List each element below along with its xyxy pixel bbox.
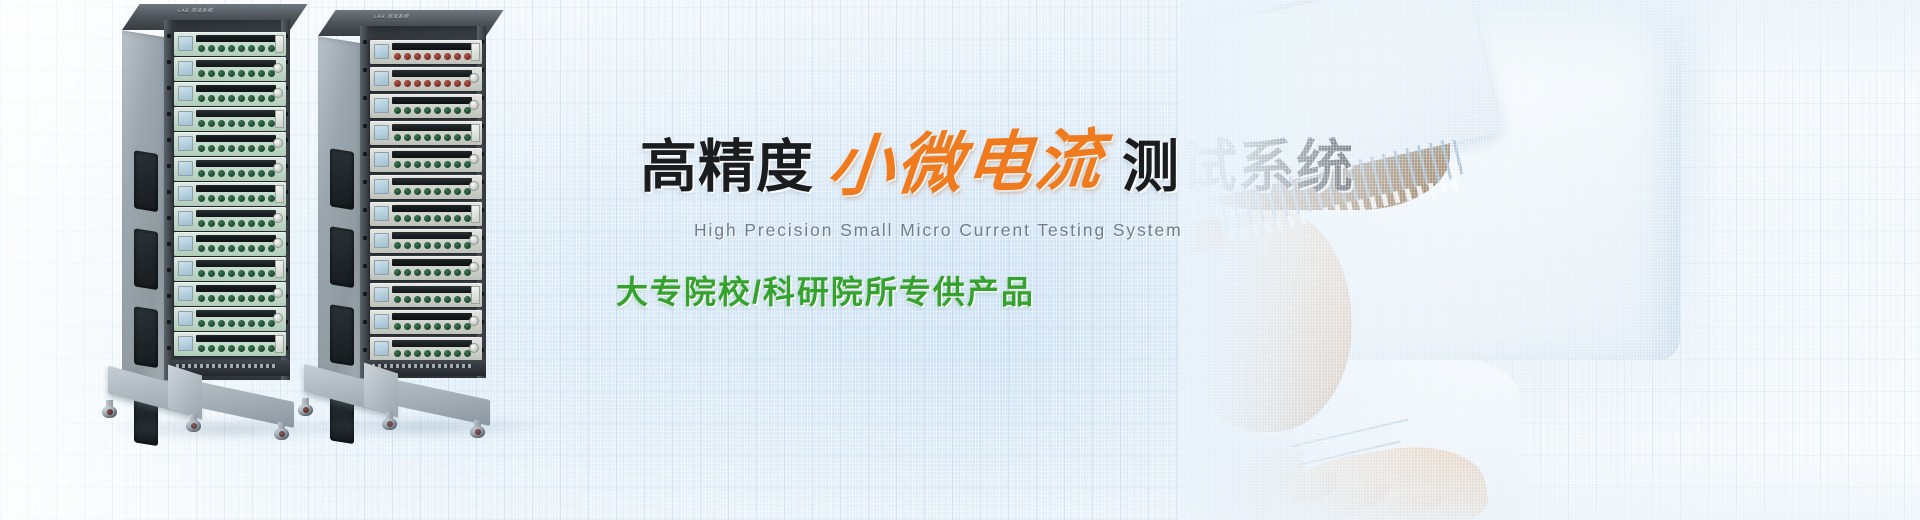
module-display	[374, 71, 389, 86]
module-terminal	[268, 345, 275, 352]
module-connector-strip	[392, 286, 472, 293]
module-terminal	[404, 296, 411, 303]
module-terminal	[444, 215, 451, 222]
module-display	[374, 152, 389, 167]
module-terminal	[208, 45, 215, 52]
module-terminal	[404, 80, 411, 87]
module-display	[374, 341, 389, 356]
module-connector-strip	[196, 285, 276, 292]
instrument-module	[174, 157, 286, 181]
instrument-module	[370, 67, 482, 91]
module-side-port	[471, 124, 480, 142]
module-terminal	[268, 120, 275, 127]
module-terminal	[434, 350, 441, 357]
rack-brand-label: LAB 测试系统	[177, 7, 214, 14]
module-terminal	[454, 323, 461, 330]
module-knob	[469, 73, 479, 83]
module-connector-strip	[392, 151, 472, 158]
module-knob	[273, 238, 283, 248]
rack-vent-slot	[330, 304, 354, 366]
module-terminal	[218, 220, 225, 227]
module-terminal	[228, 170, 235, 177]
module-terminal	[414, 161, 421, 168]
module-knob	[273, 63, 283, 73]
module-connector-strip	[196, 210, 276, 217]
module-display	[374, 98, 389, 113]
module-terminal	[424, 215, 431, 222]
module-connector-strip	[196, 85, 276, 92]
module-terminal	[218, 295, 225, 302]
module-terminal	[434, 80, 441, 87]
module-terminal	[198, 295, 205, 302]
module-terminal	[218, 170, 225, 177]
module-terminal	[454, 53, 461, 60]
module-terminal	[258, 120, 265, 127]
photo-composite	[1180, 0, 1920, 520]
module-connector-strip	[196, 235, 276, 242]
module-terminal	[464, 296, 471, 303]
module-terminal	[258, 45, 265, 52]
module-terminal	[394, 323, 401, 330]
module-terminal	[218, 70, 225, 77]
module-terminal	[208, 220, 215, 227]
equipment-racks-group: LAB 测试系统	[0, 0, 520, 520]
module-terminal	[238, 145, 245, 152]
rack-floor-shadow	[300, 416, 550, 438]
module-connector-strip	[196, 310, 276, 317]
module-connector-strip	[196, 260, 276, 267]
module-terminal	[268, 45, 275, 52]
module-side-port	[275, 260, 284, 278]
module-terminal	[248, 45, 255, 52]
instrument-module	[174, 332, 286, 356]
module-terminal	[424, 269, 431, 276]
patch-panel-ports	[372, 364, 472, 368]
module-terminal	[424, 188, 431, 195]
module-display	[374, 287, 389, 302]
module-terminal	[248, 145, 255, 152]
instrument-module	[370, 175, 482, 199]
module-terminal	[258, 220, 265, 227]
module-terminal	[414, 80, 421, 87]
module-terminal	[208, 120, 215, 127]
module-terminal	[394, 107, 401, 114]
module-display	[374, 179, 389, 194]
module-side-port	[275, 185, 284, 203]
module-terminal	[454, 188, 461, 195]
module-terminal	[404, 350, 411, 357]
rack-rail-left	[164, 20, 173, 380]
module-terminal	[208, 245, 215, 252]
instrument-module	[370, 94, 482, 118]
module-knob	[469, 154, 479, 164]
module-terminal	[434, 296, 441, 303]
module-terminal	[198, 270, 205, 277]
module-terminal	[218, 120, 225, 127]
module-terminal	[248, 70, 255, 77]
module-terminal	[454, 350, 461, 357]
module-terminal	[248, 245, 255, 252]
module-connector-strip	[196, 135, 276, 142]
module-terminal	[444, 107, 451, 114]
module-terminal	[258, 170, 265, 177]
module-terminal	[424, 242, 431, 249]
module-terminal	[208, 195, 215, 202]
module-terminal	[444, 134, 451, 141]
module-display	[178, 261, 193, 276]
module-terminal	[414, 242, 421, 249]
module-knob	[273, 163, 283, 173]
instrument-module	[174, 207, 286, 231]
caster-wheel	[298, 398, 314, 416]
module-terminal	[248, 95, 255, 102]
module-display	[178, 286, 193, 301]
module-terminal	[434, 215, 441, 222]
module-terminal	[238, 45, 245, 52]
module-terminal	[238, 170, 245, 177]
module-knob	[273, 213, 283, 223]
instrument-module	[370, 229, 482, 253]
module-connector-strip	[196, 110, 276, 117]
module-terminal	[218, 45, 225, 52]
module-terminal	[404, 215, 411, 222]
module-connector-strip	[392, 205, 472, 212]
module-terminal	[258, 270, 265, 277]
module-terminal	[434, 269, 441, 276]
module-terminal	[198, 120, 205, 127]
instrument-module	[370, 121, 482, 145]
module-terminal	[228, 70, 235, 77]
module-terminal	[208, 270, 215, 277]
module-side-port	[471, 286, 480, 304]
module-terminal	[414, 188, 421, 195]
instrument-module	[174, 257, 286, 281]
module-terminal	[208, 70, 215, 77]
module-terminal	[434, 188, 441, 195]
module-terminal	[258, 195, 265, 202]
module-terminal	[454, 107, 461, 114]
module-display	[178, 36, 193, 51]
module-terminal	[228, 195, 235, 202]
module-terminal	[248, 320, 255, 327]
module-terminal	[424, 323, 431, 330]
module-terminal	[258, 70, 265, 77]
module-terminal	[394, 188, 401, 195]
rack-side-panel	[122, 30, 168, 397]
module-terminal	[248, 345, 255, 352]
instrument-module	[174, 232, 286, 256]
module-terminal	[208, 345, 215, 352]
module-terminal	[248, 170, 255, 177]
module-terminal	[404, 323, 411, 330]
module-display	[178, 136, 193, 151]
module-knob	[469, 343, 479, 353]
module-knob	[469, 235, 479, 245]
module-terminal	[434, 134, 441, 141]
module-knob	[469, 100, 479, 110]
rack-vent-slot	[134, 228, 158, 290]
module-knob	[273, 88, 283, 98]
module-display	[178, 161, 193, 176]
module-terminal	[238, 245, 245, 252]
module-terminal	[228, 295, 235, 302]
module-terminal	[394, 53, 401, 60]
module-terminal	[414, 53, 421, 60]
module-connector-strip	[392, 70, 472, 77]
module-terminal	[454, 80, 461, 87]
instrument-module	[174, 182, 286, 206]
module-terminal	[268, 195, 275, 202]
module-terminal	[248, 295, 255, 302]
module-terminal	[218, 270, 225, 277]
module-connector-strip	[392, 97, 472, 104]
module-terminal	[454, 242, 461, 249]
instrument-module	[174, 132, 286, 156]
module-terminal	[198, 320, 205, 327]
module-display	[178, 211, 193, 226]
module-terminal	[404, 107, 411, 114]
module-display	[178, 111, 193, 126]
instrument-module	[174, 82, 286, 106]
module-terminal	[198, 345, 205, 352]
module-terminal	[258, 245, 265, 252]
instrument-module	[370, 40, 482, 64]
module-connector-strip	[392, 124, 472, 131]
module-side-port	[275, 35, 284, 53]
module-terminal	[228, 45, 235, 52]
photo-halftone-overlay	[1180, 0, 1920, 520]
module-terminal	[198, 245, 205, 252]
instrument-module	[174, 282, 286, 306]
module-terminal	[198, 95, 205, 102]
rack-brand-label: LAB 测试系统	[373, 13, 410, 20]
module-terminal	[394, 80, 401, 87]
module-terminal	[198, 220, 205, 227]
module-terminal	[258, 345, 265, 352]
module-display	[374, 206, 389, 221]
module-terminal	[444, 53, 451, 60]
module-terminal	[434, 53, 441, 60]
module-connector-strip	[196, 335, 276, 342]
patch-panel-ports	[176, 364, 276, 368]
module-terminal	[228, 345, 235, 352]
module-knob	[469, 262, 479, 272]
module-terminal	[198, 170, 205, 177]
headline-highlight: 小微电流	[824, 126, 1107, 199]
module-terminal	[208, 145, 215, 152]
module-terminal	[424, 134, 431, 141]
rack-grey-panels: LAB 测试系统	[318, 26, 480, 378]
lab-scientists-photo	[1180, 0, 1920, 520]
module-terminal	[208, 95, 215, 102]
module-terminal	[454, 269, 461, 276]
module-terminal	[228, 145, 235, 152]
module-display	[374, 314, 389, 329]
module-terminal	[394, 242, 401, 249]
module-terminal	[424, 161, 431, 168]
module-terminal	[218, 195, 225, 202]
module-terminal	[228, 95, 235, 102]
module-knob	[469, 316, 479, 326]
module-terminal	[464, 134, 471, 141]
module-terminal	[404, 242, 411, 249]
instrument-module	[370, 310, 482, 334]
module-terminal	[414, 215, 421, 222]
module-terminal	[218, 345, 225, 352]
module-terminal	[444, 350, 451, 357]
module-terminal	[238, 295, 245, 302]
module-knob	[273, 288, 283, 298]
module-terminal	[414, 350, 421, 357]
module-connector-strip	[392, 232, 472, 239]
module-terminal	[248, 120, 255, 127]
module-terminal	[444, 296, 451, 303]
module-terminal	[208, 320, 215, 327]
rack-vent-slot	[330, 148, 354, 210]
instrument-module	[174, 57, 286, 81]
instrument-module	[370, 337, 482, 361]
module-terminal	[444, 269, 451, 276]
module-display	[178, 61, 193, 76]
rack-rail-left	[360, 26, 369, 378]
module-terminal	[444, 80, 451, 87]
module-side-port	[275, 335, 284, 353]
module-terminal	[268, 270, 275, 277]
module-terminal	[434, 323, 441, 330]
module-terminal	[238, 320, 245, 327]
module-terminal	[238, 195, 245, 202]
module-connector-strip	[196, 160, 276, 167]
module-terminal	[444, 188, 451, 195]
module-terminal	[404, 134, 411, 141]
module-terminal	[198, 45, 205, 52]
module-terminal	[238, 95, 245, 102]
module-display	[178, 311, 193, 326]
rack-vent-slot	[330, 226, 354, 288]
module-connector-strip	[392, 43, 472, 50]
module-terminal	[228, 270, 235, 277]
module-terminal	[464, 215, 471, 222]
module-terminal	[404, 53, 411, 60]
module-terminal	[198, 145, 205, 152]
module-terminal	[444, 161, 451, 168]
module-connector-strip	[392, 340, 472, 347]
module-terminal	[414, 296, 421, 303]
module-terminal	[258, 320, 265, 327]
module-terminal	[248, 270, 255, 277]
module-display	[374, 260, 389, 275]
instrument-module	[174, 307, 286, 331]
module-knob	[273, 313, 283, 323]
module-terminal	[454, 161, 461, 168]
module-terminal	[208, 295, 215, 302]
module-terminal	[198, 70, 205, 77]
module-connector-strip	[196, 60, 276, 67]
module-terminal	[454, 134, 461, 141]
module-terminal	[198, 195, 205, 202]
instrument-module	[370, 256, 482, 280]
module-terminal	[444, 323, 451, 330]
module-terminal	[238, 345, 245, 352]
module-terminal	[434, 107, 441, 114]
module-terminal	[414, 323, 421, 330]
module-display	[178, 236, 193, 251]
module-terminal	[414, 269, 421, 276]
rack-vent-slot	[134, 150, 158, 212]
module-terminal	[404, 269, 411, 276]
module-terminal	[238, 270, 245, 277]
module-terminal	[394, 161, 401, 168]
module-terminal	[218, 245, 225, 252]
module-terminal	[208, 170, 215, 177]
module-terminal	[218, 145, 225, 152]
module-terminal	[394, 296, 401, 303]
module-side-port	[471, 205, 480, 223]
module-terminal	[424, 107, 431, 114]
module-side-port	[471, 43, 480, 61]
module-terminal	[238, 120, 245, 127]
rack-green-panels: LAB 测试系统	[122, 20, 290, 380]
module-knob	[469, 181, 479, 191]
instrument-module	[370, 283, 482, 307]
hero-banner: LAB 测试系统	[0, 0, 1920, 520]
module-terminal	[238, 220, 245, 227]
module-terminal	[258, 95, 265, 102]
module-terminal	[394, 215, 401, 222]
module-terminal	[228, 220, 235, 227]
module-terminal	[218, 320, 225, 327]
module-terminal	[454, 296, 461, 303]
module-display	[374, 44, 389, 59]
module-terminal	[394, 350, 401, 357]
module-knob	[273, 138, 283, 148]
rack-vent-slot	[134, 306, 158, 368]
module-terminal	[248, 195, 255, 202]
module-display	[178, 186, 193, 201]
module-connector-strip	[392, 259, 472, 266]
module-terminal	[258, 145, 265, 152]
module-terminal	[228, 120, 235, 127]
module-terminal	[414, 107, 421, 114]
module-connector-strip	[196, 35, 276, 42]
module-display	[374, 125, 389, 140]
module-terminal	[454, 215, 461, 222]
module-terminal	[218, 95, 225, 102]
module-terminal	[424, 350, 431, 357]
module-display	[178, 336, 193, 351]
module-terminal	[394, 269, 401, 276]
module-side-port	[275, 110, 284, 128]
module-connector-strip	[196, 185, 276, 192]
module-terminal	[404, 188, 411, 195]
module-terminal	[404, 161, 411, 168]
instrument-module	[370, 148, 482, 172]
module-terminal	[394, 134, 401, 141]
module-terminal	[464, 53, 471, 60]
instrument-module	[174, 107, 286, 131]
module-terminal	[434, 161, 441, 168]
instrument-module	[370, 202, 482, 226]
module-terminal	[414, 134, 421, 141]
caster-wheel	[102, 400, 118, 418]
module-connector-strip	[392, 313, 472, 320]
module-terminal	[424, 53, 431, 60]
headline-part-1: 高精度	[640, 139, 814, 196]
module-terminal	[228, 320, 235, 327]
module-terminal	[248, 220, 255, 227]
module-display	[178, 86, 193, 101]
module-terminal	[258, 295, 265, 302]
